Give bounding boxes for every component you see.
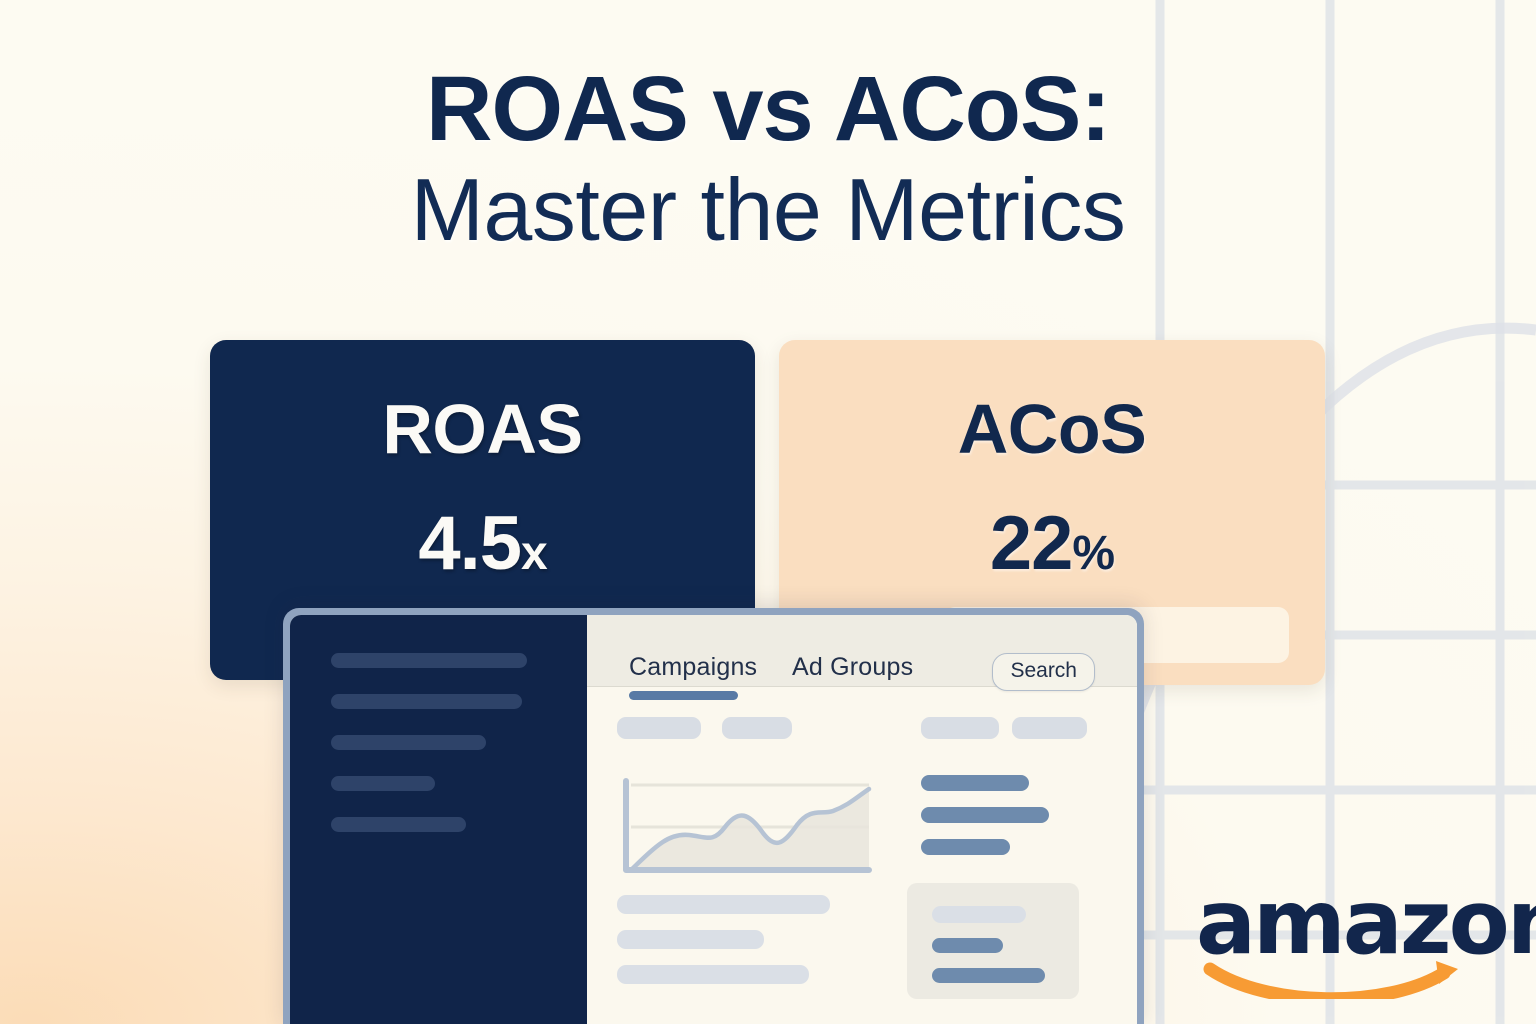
title-line-secondary: Master the Metrics xyxy=(0,161,1536,260)
filter-pill-1[interactable] xyxy=(617,717,701,739)
sidebar-item-2[interactable] xyxy=(331,694,522,709)
poster-canvas: ROAS vs ACoS: Master the Metrics ROAS 4.… xyxy=(0,0,1536,1024)
summary-panel xyxy=(907,883,1079,999)
data-row-1 xyxy=(921,775,1029,791)
roas-card-content: ROAS 4.5x xyxy=(210,394,755,582)
roas-label: ROAS xyxy=(210,394,755,464)
dashboard-viewport: Campaigns Ad Groups Search xyxy=(290,615,1137,1024)
dashboard-main: Campaigns Ad Groups Search xyxy=(587,615,1137,1024)
metric-pill-1[interactable] xyxy=(921,717,999,739)
roas-number: 4.5 xyxy=(418,501,521,586)
summary-row-2 xyxy=(932,938,1003,953)
tab-ad-groups[interactable]: Ad Groups xyxy=(792,653,913,682)
dashboard-topbar: Campaigns Ad Groups Search xyxy=(587,615,1137,687)
filter-pill-2[interactable] xyxy=(722,717,792,739)
amazon-smile-arrow-icon xyxy=(1196,953,1480,999)
page-title: ROAS vs ACoS: Master the Metrics xyxy=(0,62,1536,259)
sidebar-item-5[interactable] xyxy=(331,817,466,832)
acos-card-content: ACoS 22% xyxy=(779,394,1325,582)
acos-value: 22% xyxy=(779,506,1325,582)
sidebar-item-4[interactable] xyxy=(331,776,435,791)
sidebar-item-3[interactable] xyxy=(331,735,486,750)
summary-row-3 xyxy=(932,968,1045,983)
text-row-3 xyxy=(617,965,809,984)
data-row-2 xyxy=(921,807,1049,823)
acos-label: ACoS xyxy=(779,394,1325,464)
search-button[interactable]: Search xyxy=(992,653,1095,691)
sidebar-item-1[interactable] xyxy=(331,653,527,668)
text-row-2 xyxy=(617,930,764,949)
summary-row-1 xyxy=(932,906,1026,923)
dashboard-window: Campaigns Ad Groups Search xyxy=(283,608,1144,1024)
roas-value: 4.5x xyxy=(210,506,755,582)
title-line-primary: ROAS vs ACoS: xyxy=(0,62,1536,157)
dashboard-sidebar xyxy=(290,615,587,1024)
tab-campaigns[interactable]: Campaigns xyxy=(629,653,757,682)
metric-pill-2[interactable] xyxy=(1012,717,1087,739)
roas-unit: x xyxy=(521,527,547,580)
acos-unit: % xyxy=(1072,527,1114,580)
data-row-3 xyxy=(921,839,1010,855)
amazon-logo: amazon xyxy=(1196,878,1480,990)
dashboard-content xyxy=(587,687,1137,1024)
performance-chart xyxy=(617,775,872,877)
acos-number: 22 xyxy=(990,501,1073,586)
text-row-1 xyxy=(617,895,830,914)
